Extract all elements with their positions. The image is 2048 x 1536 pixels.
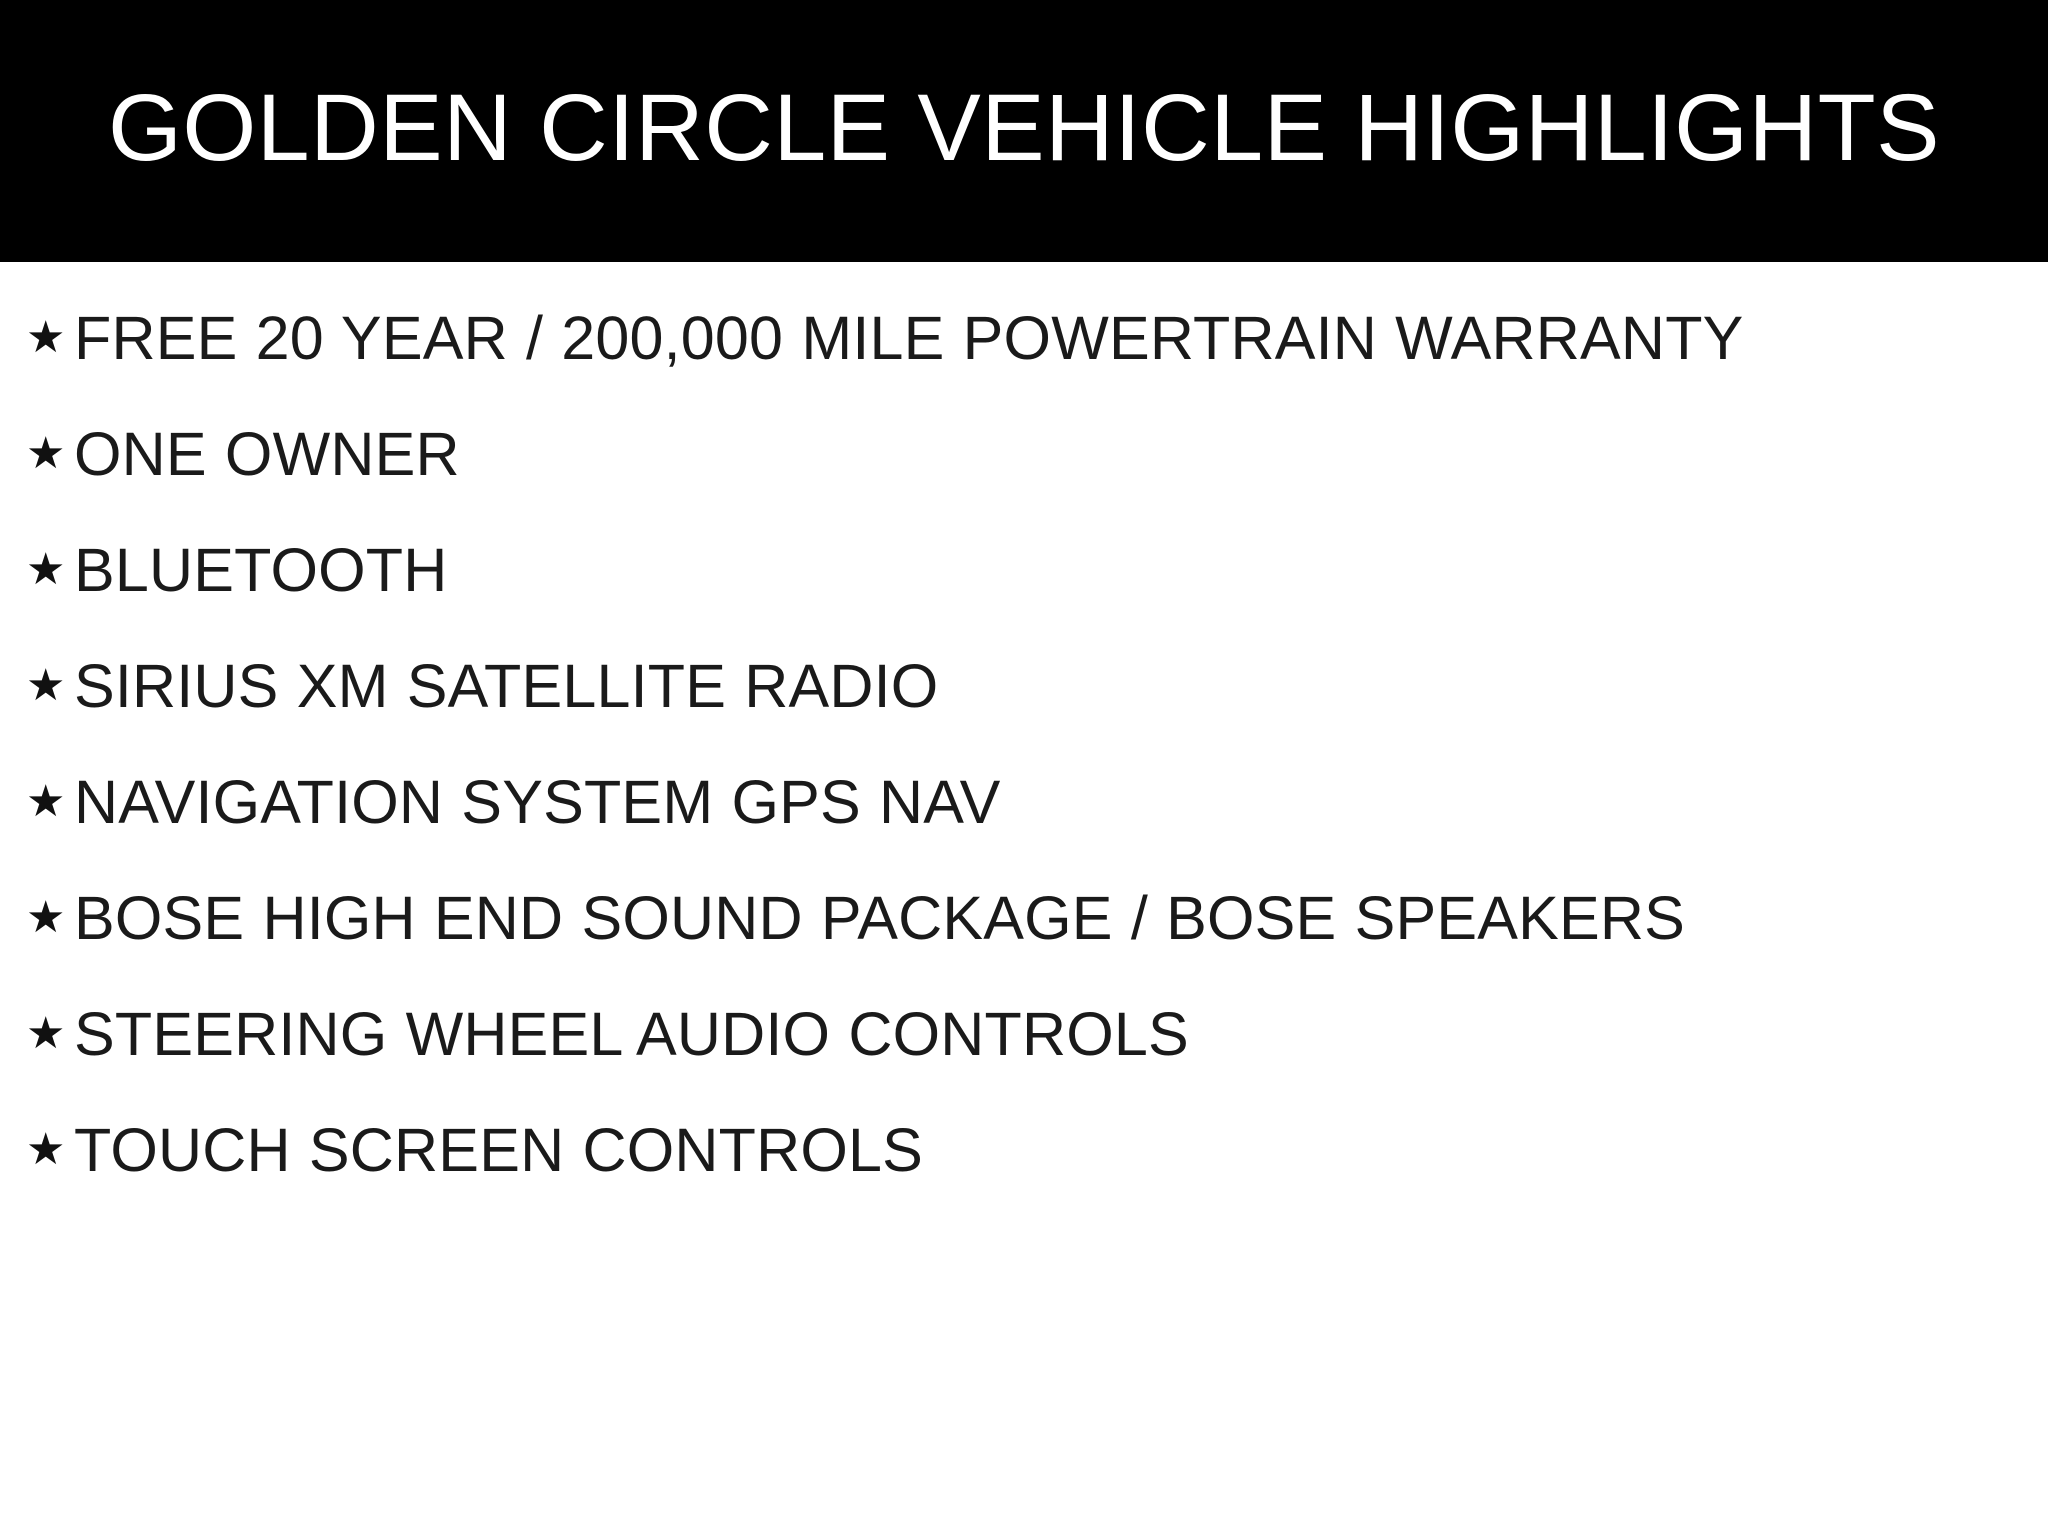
highlight-item-label: NAVIGATION SYSTEM GPS NAV [74, 764, 2024, 840]
highlight-item-label: BLUETOOTH [74, 532, 2024, 608]
highlight-item-label: SIRIUS XM SATELLITE RADIO [74, 648, 2024, 724]
highlight-item: ★BOSE HIGH END SOUND PACKAGE / BOSE SPEA… [0, 880, 2048, 956]
highlight-item: ★STEERING WHEEL AUDIO CONTROLS [0, 996, 2048, 1072]
page-header-band: GOLDEN CIRCLE VEHICLE HIGHLIGHTS [0, 0, 2048, 262]
highlight-item: ★FREE 20 YEAR / 200,000 MILE POWERTRAIN … [0, 300, 2048, 376]
star-icon: ★ [26, 764, 74, 840]
star-icon: ★ [26, 648, 74, 724]
star-icon: ★ [26, 1112, 74, 1188]
highlight-item: ★NAVIGATION SYSTEM GPS NAV [0, 764, 2048, 840]
highlight-item-label: ONE OWNER [74, 416, 2024, 492]
highlight-item-label: BOSE HIGH END SOUND PACKAGE / BOSE SPEAK… [74, 880, 2024, 956]
star-icon: ★ [26, 532, 74, 608]
star-icon: ★ [26, 996, 74, 1072]
page-title: GOLDEN CIRCLE VEHICLE HIGHLIGHTS [108, 79, 1940, 183]
star-icon: ★ [26, 300, 74, 376]
vehicle-highlights-page: GOLDEN CIRCLE VEHICLE HIGHLIGHTS ★FREE 2… [0, 0, 2048, 1536]
vehicle-highlights-list: ★FREE 20 YEAR / 200,000 MILE POWERTRAIN … [0, 262, 2048, 1188]
star-icon: ★ [26, 880, 74, 956]
highlight-item-label: FREE 20 YEAR / 200,000 MILE POWERTRAIN W… [74, 300, 2024, 376]
highlight-item: ★ONE OWNER [0, 416, 2048, 492]
highlight-item-label: STEERING WHEEL AUDIO CONTROLS [74, 996, 2024, 1072]
highlight-item: ★TOUCH SCREEN CONTROLS [0, 1112, 2048, 1188]
highlight-item-label: TOUCH SCREEN CONTROLS [74, 1112, 2024, 1188]
star-icon: ★ [26, 416, 74, 492]
highlight-item: ★SIRIUS XM SATELLITE RADIO [0, 648, 2048, 724]
highlight-item: ★BLUETOOTH [0, 532, 2048, 608]
